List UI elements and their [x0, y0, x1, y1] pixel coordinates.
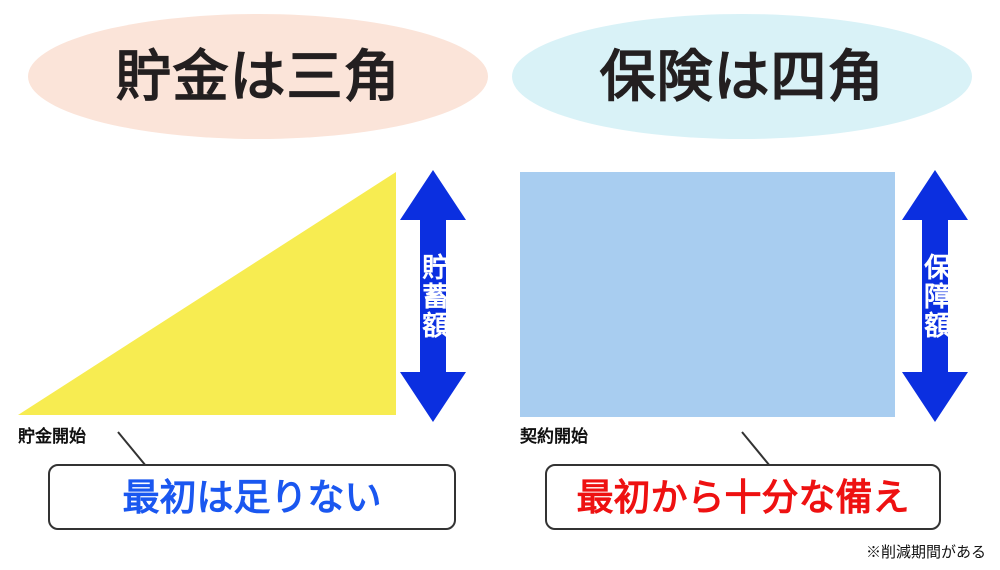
title-ellipse-right: 保険は四角	[512, 14, 972, 139]
contract-start-label: 契約開始	[520, 422, 588, 447]
savings-triangle-shape	[18, 172, 398, 417]
callout-box-right: 最初から十分な備え	[545, 464, 941, 530]
callout-left-text: 最初は足りない	[123, 479, 382, 516]
callout-box-left: 最初は足りない	[48, 464, 456, 530]
diagram-canvas: 貯金は三角 保険は四角 貯蓄額 保障額 貯金開始 契約開始	[0, 0, 1000, 570]
insurance-rectangle-shape	[520, 172, 895, 417]
savings-start-label: 貯金開始	[18, 422, 86, 447]
footnote-text: ※削減期間がある	[866, 541, 986, 562]
savings-amount-arrow: 貯蓄額	[396, 168, 470, 424]
callout-right-text: 最初から十分な備え	[577, 479, 910, 516]
title-ellipse-left: 貯金は三角	[28, 14, 488, 139]
title-left-text: 貯金は三角	[116, 49, 401, 105]
coverage-amount-arrow: 保障額	[898, 168, 972, 424]
title-right-text: 保険は四角	[600, 49, 885, 105]
